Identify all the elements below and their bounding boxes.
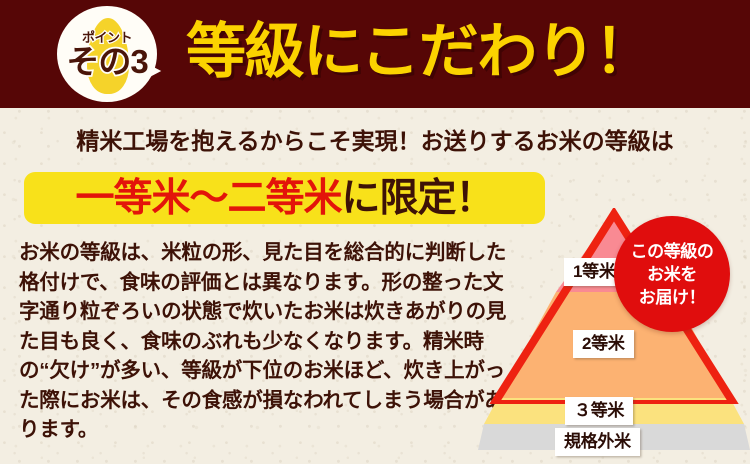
body-paragraph: お米の等級は、米粒の形、見た目を総合的に判断した格付けで、食味の評価とは異なりま… bbox=[19, 238, 511, 445]
callout-line-3: お届け！ bbox=[639, 286, 705, 309]
header-bar: ポイント その3 等級にこだわり！ bbox=[0, 0, 750, 108]
callout-line-1: この等級の bbox=[631, 240, 714, 263]
highlight-band: 一等米～二等米に限定！ bbox=[24, 172, 545, 224]
badge-number-label: その3 bbox=[66, 45, 147, 78]
badge-point-label: ポイント bbox=[82, 31, 132, 44]
highlight-emphasis-text: 一等米～二等米 bbox=[75, 177, 341, 220]
promo-banner: ポイント その3 等級にこだわり！ 精米工場を抱えるからこそ実現！お送りするお米… bbox=[0, 0, 750, 464]
point-badge: ポイント その3 bbox=[57, 6, 161, 102]
badge-text-group: ポイント その3 bbox=[57, 6, 157, 102]
highlight-suffix-text: に限定！ bbox=[342, 177, 494, 220]
highlight-text: 一等米～二等米に限定！ bbox=[75, 179, 493, 218]
header-title: 等級にこだわり！ bbox=[186, 16, 653, 88]
pyramid-label-grade-2: 2等米 bbox=[573, 330, 634, 358]
subtitle-text: 精米工場を抱えるからこそ実現！お送りするお米の等級は bbox=[0, 122, 750, 156]
pyramid-label-grade-3: ３等米 bbox=[565, 397, 633, 425]
delivery-callout-badge: この等級の お米を お届け！ bbox=[614, 216, 730, 332]
pyramid-label-out-of-grade: 規格外米 bbox=[555, 428, 640, 456]
callout-line-2: お米を bbox=[647, 263, 697, 286]
